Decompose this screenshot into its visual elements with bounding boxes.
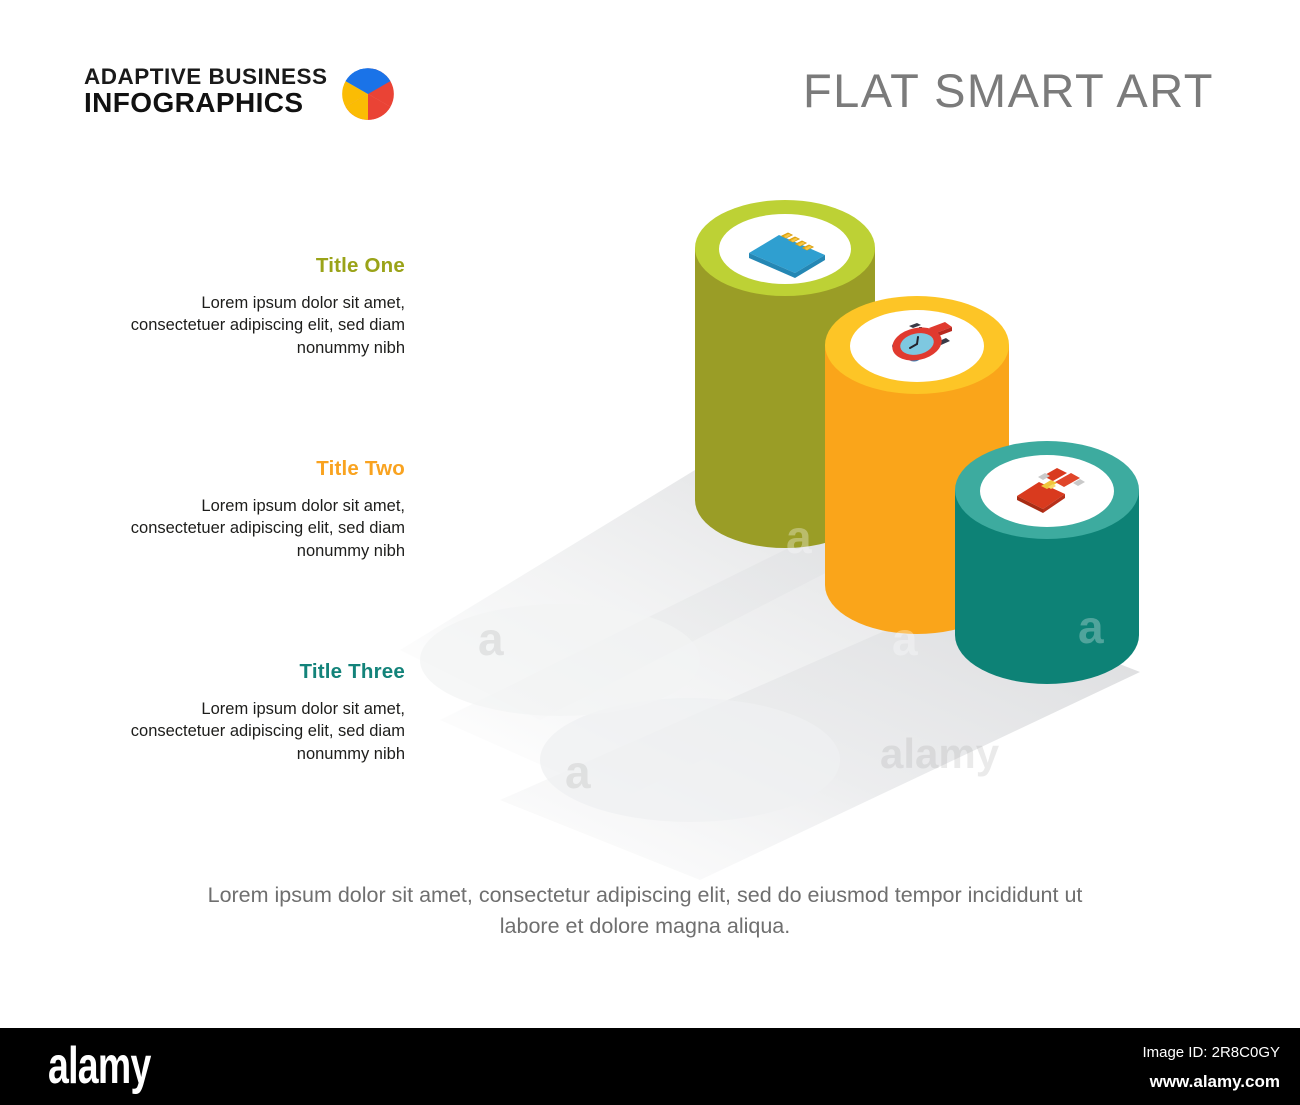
infographic-slide: ADAPTIVE BUSINESS INFOGRAPHICS FLAT SMAR… xyxy=(0,0,1300,1105)
alamy-logo: alamy xyxy=(48,1036,151,1096)
alamy-watermark-bar: alamy Image ID: 2R8C0GY www.alamy.com xyxy=(0,1028,1300,1105)
caption-text: Lorem ipsum dolor sit amet, consectetur … xyxy=(190,880,1100,941)
cylinder-chart-svg xyxy=(0,0,1300,900)
alamy-url: www.alamy.com xyxy=(1150,1072,1280,1092)
alamy-image-id: Image ID: 2R8C0GY xyxy=(1142,1044,1280,1061)
cylinder-three[interactable] xyxy=(955,441,1139,684)
cylinder-chart: a a a a a alamy xyxy=(0,0,1300,900)
